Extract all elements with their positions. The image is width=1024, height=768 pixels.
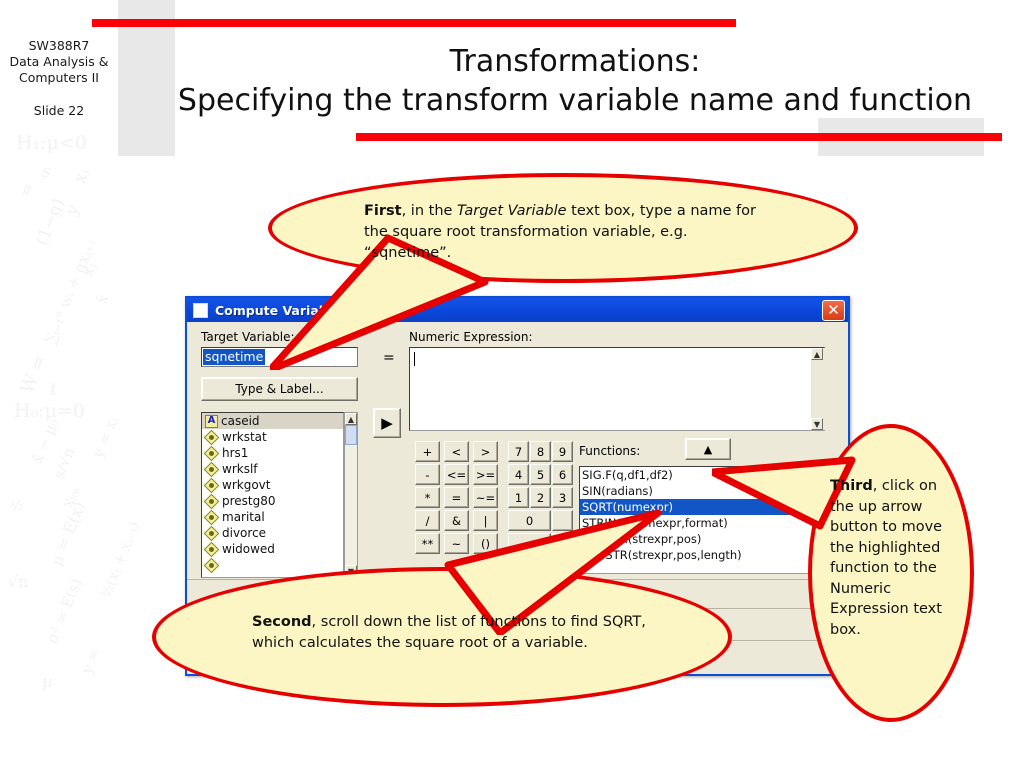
list-item[interactable]: hrs1 (202, 445, 343, 461)
variable-name: caseid (221, 414, 260, 428)
variable-name: hrs1 (222, 446, 248, 460)
keypad-key-lte[interactable]: <= (444, 464, 469, 485)
variable-name: wrkslf (222, 462, 258, 476)
keypad-key-7[interactable]: 7 (508, 441, 529, 462)
keypad-key-8[interactable]: 8 (530, 441, 551, 462)
numeric-variable-icon (204, 493, 220, 509)
keypad-key-gt[interactable]: > (473, 441, 498, 462)
list-item[interactable]: wrkslf (202, 461, 343, 477)
numeric-variable-icon (204, 541, 220, 557)
variable-list[interactable]: A caseid wrkstat hrs1 wrkslf wrkgovt (201, 412, 344, 578)
keypad-key-5[interactable]: 5 (530, 464, 551, 485)
numeric-variable-icon (204, 429, 220, 445)
variable-name: marital (222, 510, 265, 524)
decor-red-bar-top (92, 19, 736, 27)
variable-name: widowed (222, 542, 275, 556)
target-variable-value: sqnetime (203, 349, 265, 365)
list-item[interactable]: wrkgovt (202, 477, 343, 493)
numeric-variable-icon (204, 461, 220, 477)
course-line-2: Data Analysis & (0, 54, 118, 70)
keypad-key-plus[interactable]: + (415, 441, 440, 462)
variable-name: divorce (222, 526, 266, 540)
string-variable-icon: A (205, 415, 218, 428)
numeric-variable-icon (204, 525, 220, 541)
callout-second-text: Second, scroll down the list of function… (252, 612, 652, 654)
keypad-key-lt[interactable]: < (444, 441, 469, 462)
window-icon (193, 303, 208, 318)
list-item[interactable]: widowed (202, 541, 343, 557)
variable-name: prestg80 (222, 494, 276, 508)
callout-second-rest: , scroll down the list of functions to f… (252, 614, 646, 651)
scroll-up-icon[interactable]: ▲ (811, 348, 823, 360)
course-code: SW388R7 (0, 38, 118, 54)
decor-red-bar-bottom (356, 133, 1002, 141)
variable-name: wrkstat (222, 430, 267, 444)
variable-name: wrkgovt (222, 478, 270, 492)
variable-list-scrollbar[interactable]: ▲ ▼ (344, 412, 358, 578)
callout-first-text: First, in the Target Variable text box, … (364, 201, 764, 264)
move-to-expression-button[interactable]: ▶ (373, 408, 401, 438)
callout-first-rest-a: , in the (402, 203, 457, 219)
list-item[interactable]: A caseid (202, 413, 343, 429)
keypad-key-6[interactable]: 6 (552, 464, 573, 485)
keypad-key-minus[interactable]: - (415, 464, 440, 485)
type-and-label-button[interactable]: Type & Label... (201, 377, 358, 401)
numeric-variable-icon (204, 477, 220, 493)
callout-third-lead: Third (830, 478, 873, 494)
keypad-key-gte[interactable]: >= (473, 464, 498, 485)
slide-canvas: H₁:μ<0 s xⱼ = y (1−g) ∑ᵢ₌₁ⁿ wᵢ + gxⱼ₊₁ x… (0, 0, 1024, 768)
scrollbar-thumb[interactable] (345, 425, 357, 445)
list-item[interactable]: prestg80 (202, 493, 343, 509)
page-title: Transformations: Specifying the transfor… (130, 42, 1020, 120)
keypad-key-power[interactable]: ** (415, 533, 440, 554)
course-line-3: Computers II (0, 70, 118, 86)
numeric-variable-icon (204, 445, 220, 461)
page-title-line-1: Transformations: (130, 42, 1020, 81)
callout-third-rest: , click on the up arrow button to move t… (830, 478, 942, 638)
page-title-line-2: Specifying the transform variable name a… (130, 81, 1020, 120)
course-identifier: SW388R7 Data Analysis & Computers II (0, 38, 118, 86)
functions-label: Functions: (579, 444, 640, 458)
list-item[interactable]: wrkstat (202, 429, 343, 445)
numeric-variable-icon (204, 509, 220, 525)
callout-first-emphasis: Target Variable (457, 203, 567, 219)
list-item[interactable]: marital (202, 509, 343, 525)
slide-number: Slide 22 (0, 103, 118, 118)
keypad-key-9[interactable]: 9 (552, 441, 573, 462)
keypad-key-divide[interactable]: / (415, 510, 440, 531)
callout-first-lead: First (364, 203, 402, 219)
list-item[interactable]: divorce (202, 525, 343, 541)
math-watermark: H₁:μ<0 s xⱼ = y (1−g) ∑ᵢ₌₁ⁿ wᵢ + gxⱼ₊₁ x… (0, 132, 150, 762)
keypad-key-multiply[interactable]: * (415, 487, 440, 508)
scroll-up-icon[interactable]: ▲ (345, 413, 357, 425)
keypad-key-4[interactable]: 4 (508, 464, 529, 485)
callout-second-lead: Second (252, 614, 312, 630)
close-icon[interactable]: ✕ (822, 300, 845, 321)
expression-scrollbar[interactable]: ▲ ▼ (811, 348, 825, 430)
callout-third-text: Third, click on the up arrow button to m… (830, 476, 952, 640)
